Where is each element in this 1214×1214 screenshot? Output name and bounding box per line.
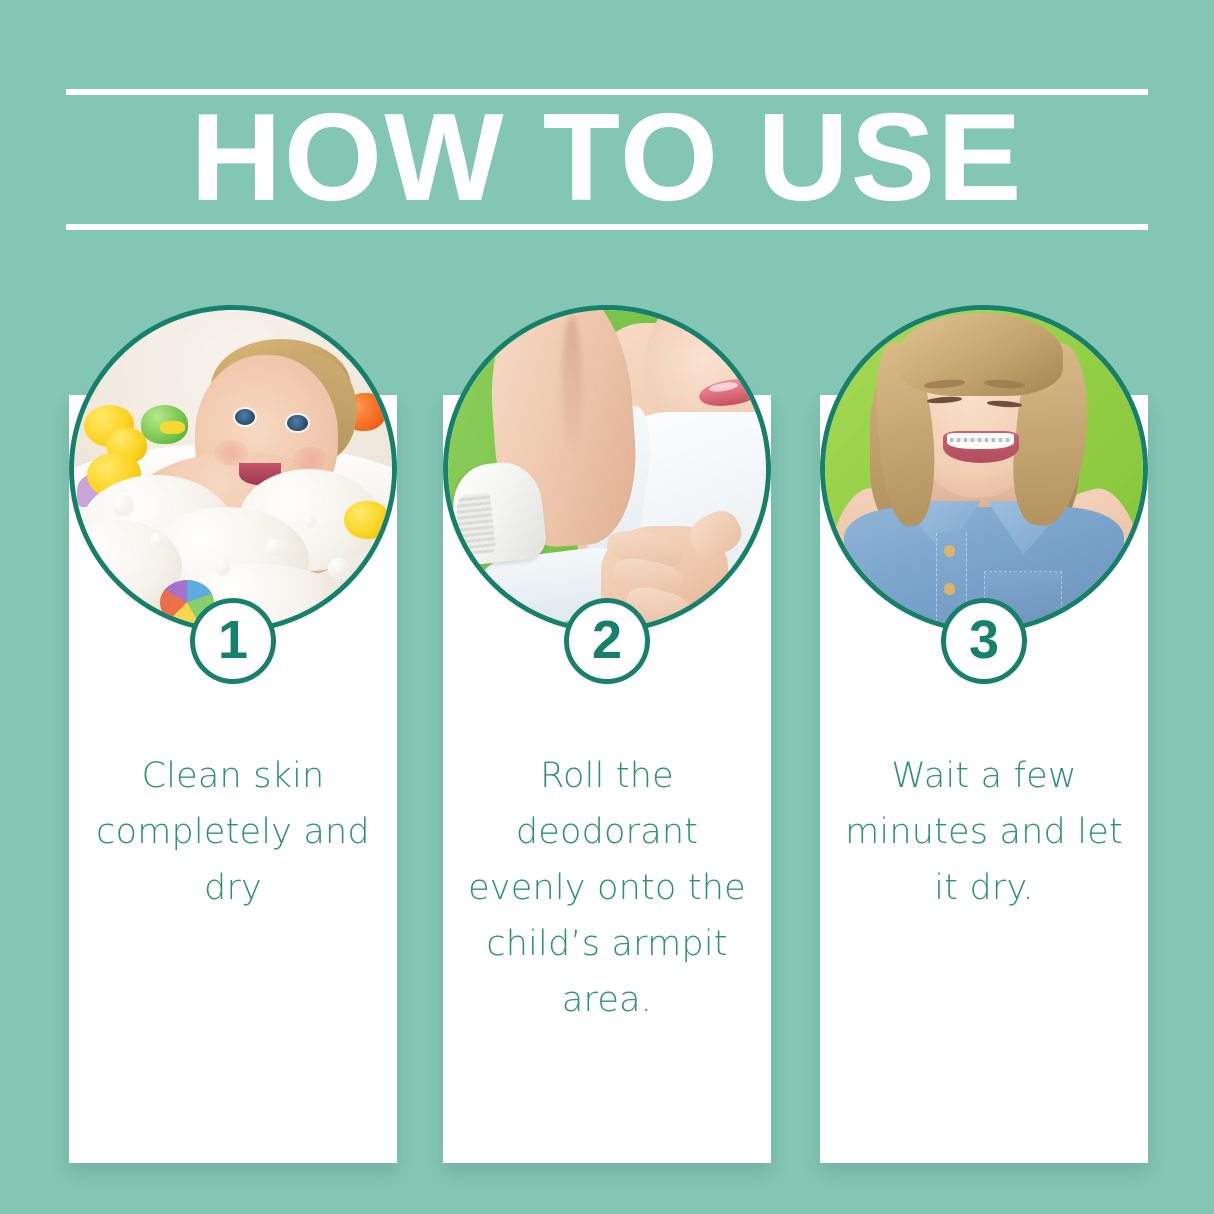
how-to-use-infographic: HOW TO USE — [0, 0, 1214, 1214]
step-number-3: 3 — [969, 613, 999, 667]
step-caption-2: Roll the deodorant evenly onto the child… — [454, 748, 760, 1028]
step-caption-3: Wait a few minutes and let it dry. — [831, 748, 1137, 916]
deodorant-applied-to-armpit-photo — [443, 305, 771, 633]
step-number-1: 1 — [218, 613, 248, 667]
step-number-2: 2 — [592, 613, 622, 667]
step-number-badge-2: 2 — [564, 598, 650, 684]
step-number-badge-3: 3 — [941, 598, 1027, 684]
steps-list: 1 Clean skin completely and dry — [0, 0, 1214, 1214]
step-number-badge-1: 1 — [190, 598, 276, 684]
smiling-girl-arms-raised-photo — [820, 305, 1148, 633]
step-caption-1: Clean skin completely and dry — [80, 748, 386, 916]
baby-in-bubble-bath-photo — [69, 305, 397, 633]
